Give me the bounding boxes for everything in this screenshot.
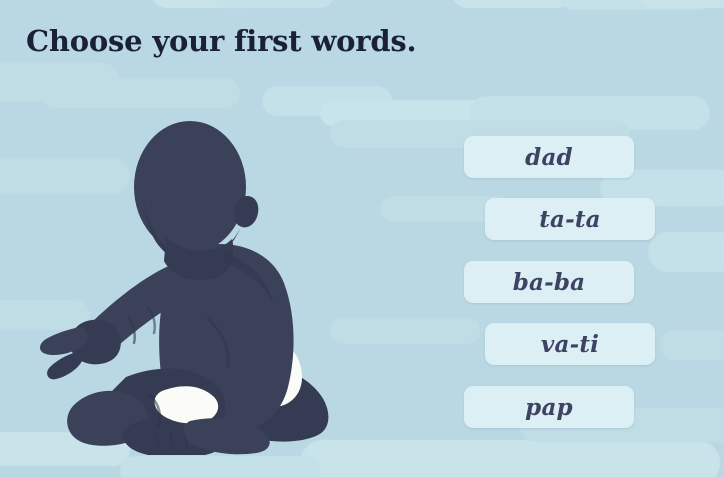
page-title: Choose your first words. <box>26 22 416 60</box>
cloud-shape <box>40 78 240 108</box>
word-option-va-ti[interactable]: va-ti <box>485 323 655 365</box>
cloud-shape <box>330 318 480 344</box>
cloud-shape <box>470 96 710 130</box>
cloud-shape <box>648 232 724 272</box>
cloud-shape <box>560 0 710 10</box>
cloud-shape <box>300 440 720 477</box>
word-option-pap[interactable]: pap <box>464 386 634 428</box>
word-option-dad[interactable]: dad <box>464 136 634 178</box>
cloud-shape <box>640 0 724 8</box>
app-screen: Choose your first words. <box>0 0 724 477</box>
cloud-shape <box>214 0 334 8</box>
cloud-shape <box>452 0 572 8</box>
cloud-shape <box>0 62 120 102</box>
word-option-ta-ta[interactable]: ta-ta <box>485 198 655 240</box>
cloud-shape <box>120 456 320 477</box>
cloud-shape <box>660 330 724 360</box>
pointing-baby-illustration <box>30 105 350 455</box>
word-option-ba-ba[interactable]: ba-ba <box>464 261 634 303</box>
cloud-shape <box>150 0 260 8</box>
baby-silhouette-group <box>40 121 328 455</box>
